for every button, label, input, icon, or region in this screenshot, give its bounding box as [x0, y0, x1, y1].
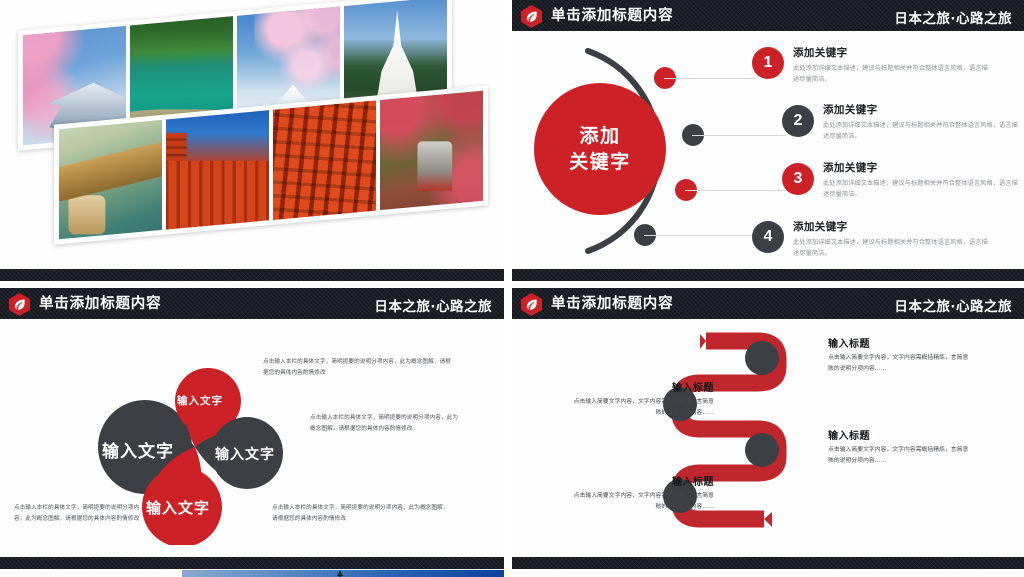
item-title: 添加关键字 — [793, 48, 989, 60]
page-title: 单击添加标题内容 — [551, 297, 673, 312]
step-description: 点击输入简要文字内容，文字内容需概括精炼，言简意赅的说明分项内容…… — [828, 445, 974, 468]
feather-leaf-icon — [9, 293, 30, 316]
feather-leaf-icon — [521, 5, 542, 28]
center-line-1: 添加 — [579, 127, 620, 146]
brand-label: 日本之旅·心路之旅 — [894, 7, 1012, 27]
item-number-badge: 4 — [752, 221, 784, 253]
pinwheel-paragraph-top-right: 点击输入本栏的具体文字，简明扼要的说明分项内容，此为概念图解，请根据您的具体内容… — [263, 357, 453, 379]
item-number-badge: 2 — [782, 105, 814, 137]
slide-body: 输入标题 点击输入简要文字内容，文字内容需概括精炼，言简意赅的说明分项内容…… … — [512, 321, 1024, 557]
keyword-item-list: 1 添加关键字 此处添加详细文本描述，建议与标题相关并符合整体语言风格，语言描述… — [752, 39, 1018, 267]
slide-header: 单击添加标题内容 日本之旅·心路之旅 — [0, 288, 504, 321]
keyword-item-2[interactable]: 2 添加关键字 此处添加详细文本描述，建议与标题相关并符合整体语言风格，语言描述… — [782, 105, 1018, 142]
slide-thumbnail-deck: 单击添加标题内容 日本之旅·心路之旅 添加 关键字 — [0, 0, 1024, 577]
connector-line-4 — [644, 235, 756, 236]
pinwheel-label-bottom: 输入文字 — [146, 497, 210, 518]
zigzag-step-3[interactable]: 输入标题 点击输入简要文字内容，文字内容需概括精炼，言简意赅的说明分项内容…… — [828, 431, 974, 468]
center-keyword-circle[interactable]: 添加 关键字 — [534, 83, 666, 215]
step-description: 点击输入简要文字内容，文字内容需概括精炼，言简意赅的说明分项内容…… — [568, 397, 714, 420]
item-description: 此处添加详细文本描述，建议与标题相关并符合整体语言风格，语言描述尽量简洁。 — [793, 63, 989, 86]
arc-diagram: 添加 关键字 — [526, 37, 756, 265]
brand-label: 日本之旅·心路之旅 — [374, 295, 492, 315]
pinwheel-paragraph-bottom-right: 点击输入本栏的具体文字，简明扼要的说明分项内容，此为概念图解，请根据您的具体内容… — [272, 503, 452, 525]
pinwheel-paragraph-middle-right: 点击输入本栏的具体文字，简明扼要的说明分项内容，此为概念图解，请根据您的具体内容… — [310, 413, 460, 435]
item-number-badge: 3 — [782, 163, 814, 195]
step-description: 点击输入简要文字内容，文字内容需概括精炼，言简意赅的说明分项内容…… — [828, 353, 974, 376]
slide-footer-bar — [0, 269, 504, 281]
keyword-item-3[interactable]: 3 添加关键字 此处添加详细文本描述，建议与标题相关并符合整体语言风格，语言描述… — [782, 163, 1018, 200]
slide-header: 单击添加标题内容 日本之旅·心路之旅 — [512, 0, 1024, 33]
zigzag-step-2[interactable]: 输入标题 点击输入简要文字内容，文字内容需概括精炼，言简意赅的说明分项内容…… — [568, 383, 714, 420]
zigzag-step-4[interactable]: 输入标题 点击输入简要文字内容，文字内容需概括精炼，言简意赅的说明分项内容…… — [568, 477, 714, 514]
slide-footer-bar — [512, 557, 1024, 569]
photo-collage — [14, 0, 494, 267]
slide-footer-bar — [512, 269, 1024, 281]
step-title: 输入标题 — [568, 383, 714, 394]
next-slide-background — [182, 570, 504, 577]
pinwheel-label-top: 输入文字 — [177, 393, 223, 408]
feather-leaf-icon — [521, 293, 542, 316]
collage-canvas — [0, 0, 504, 269]
photo-autumn-maple-shrine[interactable] — [380, 91, 483, 210]
item-title: 添加关键字 — [823, 105, 1018, 117]
slide-photo-collage[interactable] — [0, 0, 504, 281]
slide-footer-bar — [0, 557, 504, 569]
center-line-2: 关键字 — [569, 153, 631, 172]
pinwheel-paragraph-bottom-left: 点击输入本栏的具体文字，简明扼要的说明分项内容，此为概念图解，请根据您的具体内容… — [14, 503, 146, 525]
photo-bamboo-water-ladle[interactable] — [59, 120, 162, 239]
step-title: 输入标题 — [568, 477, 714, 488]
slide-pinwheel[interactable]: 单击添加标题内容 日本之旅·心路之旅 — [0, 288, 504, 569]
keyword-item-4[interactable]: 4 添加关键字 此处添加详细文本描述，建议与标题相关并符合整体语言风格，语言描述… — [752, 221, 989, 259]
item-description: 此处添加详细文本描述，建议与标题相关并符合整体语言风格，语言描述尽量简洁。 — [823, 120, 1018, 143]
pinwheel-label-right: 输入文字 — [215, 444, 275, 464]
slide-zigzag[interactable]: 单击添加标题内容 日本之旅·心路之旅 输入标题 点击输入简要文字内容，文字内容需… — [512, 288, 1024, 569]
keyword-item-1[interactable]: 1 添加关键字 此处添加详细文本描述，建议与标题相关并符合整体语言风格，语言描述… — [752, 47, 989, 85]
pinwheel-label-left: 输入文字 — [102, 437, 174, 462]
slide-body: 输入文字 输入文字 输入文字 输入文字 点击输入本栏的具体文字，简明扼要的说明分… — [0, 321, 504, 557]
item-description: 此处添加详细文本描述，建议与标题相关并符合整体语言风格，语言描述尽量简洁。 — [793, 237, 989, 260]
item-title: 添加关键字 — [823, 163, 1018, 175]
item-title: 添加关键字 — [793, 222, 989, 234]
connector-line-1 — [664, 78, 756, 79]
slide-arc-keywords[interactable]: 单击添加标题内容 日本之旅·心路之旅 添加 关键字 — [512, 0, 1024, 281]
item-number-badge: 1 — [752, 47, 784, 79]
photo-torii-gate-tunnel[interactable] — [273, 100, 376, 219]
slide-header: 单击添加标题内容 日本之旅·心路之旅 — [512, 288, 1024, 321]
zigzag-node-3[interactable] — [745, 433, 779, 467]
zigzag-node-1[interactable] — [745, 341, 779, 375]
slide-next-partial[interactable] — [182, 570, 504, 577]
step-title: 输入标题 — [828, 431, 974, 442]
zigzag-step-1[interactable]: 输入标题 点击输入简要文字内容，文字内容需概括精炼，言简意赅的说明分项内容…… — [828, 339, 974, 376]
slide-body: 添加 关键字 1 添加关键字 此处添加详细文本描述，建议与标题相关并符合整体语言… — [512, 33, 1024, 269]
page-title: 单击添加标题内容 — [551, 9, 673, 24]
step-description: 点击输入简要文字内容，文字内容需概括精炼，言简意赅的说明分项内容…… — [568, 491, 714, 514]
photo-red-temple-hall[interactable] — [166, 110, 269, 229]
item-description: 此处添加详细文本描述，建议与标题相关并符合整体语言风格，语言描述尽量简洁。 — [823, 178, 1018, 201]
step-title: 输入标题 — [828, 339, 974, 350]
page-title: 单击添加标题内容 — [39, 297, 161, 312]
brand-label: 日本之旅·心路之旅 — [894, 295, 1012, 315]
